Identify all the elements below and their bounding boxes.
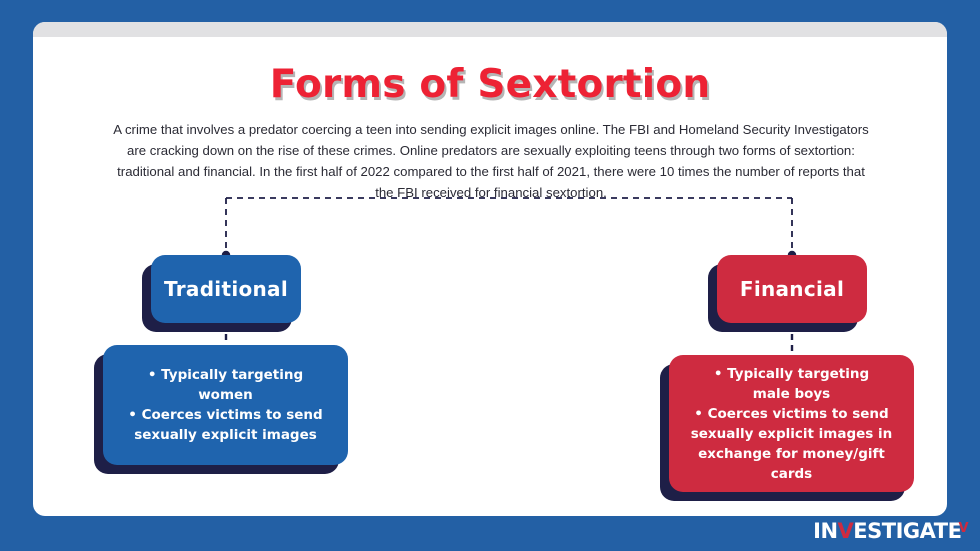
logo-text-part2: ESTIGATE (853, 519, 961, 543)
list-item: sexually explicit images in (683, 424, 900, 444)
logo-v-accent-icon: V (838, 519, 854, 543)
list-item: male boys (683, 384, 900, 404)
node-traditional-details[interactable]: • Typically targeting women • Coerces vi… (103, 345, 348, 465)
node-financial-details[interactable]: • Typically targeting male boys • Coerce… (669, 355, 914, 492)
node-traditional-heading[interactable]: Traditional (151, 255, 301, 323)
list-item: women (117, 385, 334, 405)
logo-text-part1: IN (813, 519, 837, 543)
card-top-strip (33, 22, 947, 37)
list-item: • Typically targeting (117, 365, 334, 385)
list-item: exchange for money/gift cards (683, 444, 900, 484)
list-item: • Coerces victims to send (117, 405, 334, 425)
list-item: sexually explicit images (117, 425, 334, 445)
slide-card: Forms of Sextortion A crime that involve… (33, 22, 947, 516)
investigate-logo: IN V ESTIGATE V (813, 519, 968, 543)
intro-paragraph: A crime that involves a predator coercin… (111, 119, 871, 203)
list-item: • Typically targeting (683, 364, 900, 384)
traditional-bullet-list: • Typically targeting women • Coerces vi… (103, 345, 348, 465)
node-financial-heading[interactable]: Financial (717, 255, 867, 323)
list-item: • Coerces victims to send (683, 404, 900, 424)
page-title: Forms of Sextortion (33, 62, 947, 107)
node-financial-label: Financial (717, 255, 867, 323)
logo-tail-icon: V (958, 522, 968, 535)
financial-bullet-list: • Typically targeting male boys • Coerce… (669, 355, 914, 492)
node-traditional-label: Traditional (151, 255, 301, 323)
